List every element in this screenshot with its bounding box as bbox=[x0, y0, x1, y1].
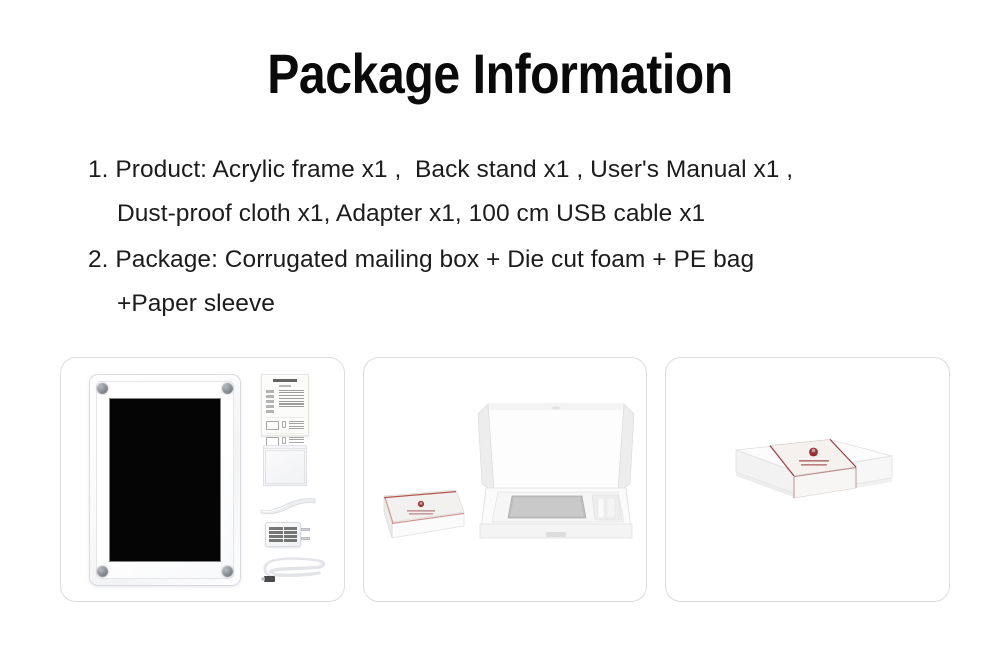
dust-proof-cloth bbox=[263, 448, 307, 486]
spec-line-package-2: +Paper sleeve bbox=[88, 282, 968, 326]
spec-item-product: 1. Product: Acrylic frame x1 , Back stan… bbox=[88, 148, 968, 236]
manual-diagram-block bbox=[266, 433, 304, 446]
corner-screw-icon bbox=[97, 383, 108, 394]
adapter-prong-icon bbox=[301, 537, 310, 540]
acrylic-frame-product bbox=[89, 374, 241, 586]
power-adapter bbox=[265, 522, 301, 547]
package-spec-list: 1. Product: Acrylic frame x1 , Back stan… bbox=[88, 148, 968, 328]
spec-item-package: 2. Package: Corrugated mailing box + Die… bbox=[88, 238, 968, 326]
back-stand bbox=[259, 496, 317, 514]
accessory-column bbox=[257, 374, 329, 586]
manual-diagram-block bbox=[266, 417, 304, 430]
adapter-prong-icon bbox=[301, 528, 310, 531]
adapter-label bbox=[269, 527, 297, 542]
usb-cable bbox=[259, 554, 325, 584]
display-screen bbox=[110, 399, 220, 561]
usb-connector-icon bbox=[264, 576, 275, 582]
page-title: Package Information bbox=[70, 40, 930, 108]
corner-screw-icon bbox=[97, 566, 108, 577]
sleeve-text-line bbox=[409, 513, 433, 514]
corrugated-mailing-box-closed bbox=[714, 436, 906, 522]
spec-line-product-1: 1. Product: Acrylic frame x1 , Back stan… bbox=[88, 148, 968, 192]
manual-title-bar bbox=[273, 379, 297, 382]
sleeve-text-line bbox=[801, 464, 827, 466]
manual-spec-rows bbox=[266, 390, 304, 413]
paper-sleeve-box bbox=[370, 486, 468, 548]
sleeve-text-line bbox=[407, 510, 435, 511]
users-manual bbox=[261, 374, 309, 436]
manual-subtitle-bar bbox=[279, 385, 291, 387]
panel-open-package bbox=[363, 357, 648, 602]
corner-screw-icon bbox=[222, 383, 233, 394]
box-lid-notch bbox=[551, 406, 561, 409]
package-information-page: Package Information 1. Product: Acrylic … bbox=[0, 0, 1000, 650]
product-photo-gallery bbox=[60, 357, 950, 602]
corrugated-mailing-box-open bbox=[476, 396, 636, 548]
spec-line-product-2: Dust-proof cloth x1, Adapter x1, 100 cm … bbox=[88, 192, 968, 236]
box-closure-tab bbox=[546, 532, 566, 537]
manual-text-lines bbox=[279, 390, 304, 413]
manual-frame-diagram-icon bbox=[266, 421, 279, 430]
manual-icon-column bbox=[266, 390, 276, 413]
panel-product-contents bbox=[60, 357, 345, 602]
manual-cable-diagram-icon bbox=[282, 437, 286, 444]
sleeve-text-line bbox=[799, 460, 829, 462]
corner-screw-icon bbox=[222, 566, 233, 577]
panel-closed-package bbox=[665, 357, 950, 602]
manual-adapter-diagram-icon bbox=[282, 421, 286, 428]
spec-line-package-1: 2. Package: Corrugated mailing box + Die… bbox=[88, 238, 968, 282]
